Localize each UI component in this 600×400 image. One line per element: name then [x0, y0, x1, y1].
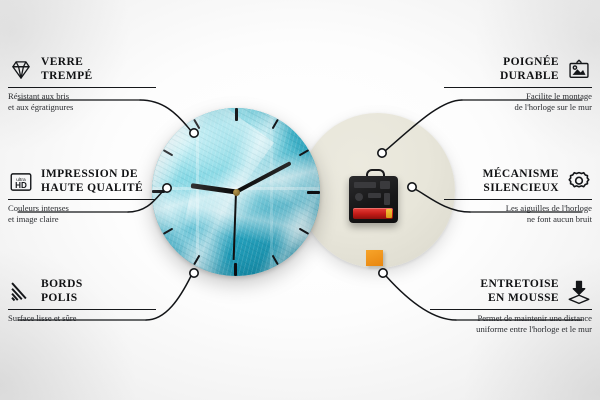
callout-header: ENTRETOISE EN MOUSSE: [430, 278, 592, 305]
callout-title: BORDS POLIS: [41, 278, 83, 305]
callout-divider: [430, 309, 592, 310]
callout-title: ENTRETOISE EN MOUSSE: [480, 278, 559, 305]
callout-divider: [8, 309, 156, 310]
callout-divider: [8, 199, 156, 200]
foam-spacer-icon: [566, 279, 592, 305]
callout-entretoise-en-mousse[interactable]: ENTRETOISE EN MOUSSE Permet de maintenir…: [430, 278, 592, 334]
callout-subtitle-line2: et image claire: [8, 214, 156, 225]
callout-divider: [444, 199, 592, 200]
callout-subtitle-line2: de l'horloge sur le mur: [444, 102, 592, 113]
callout-bords-polis[interactable]: BORDS POLIS Surface lisse et sûre: [8, 278, 156, 324]
clock-tick-3: [236, 191, 320, 193]
callout-divider: [8, 87, 156, 88]
callout-subtitle-line2: et aux égratignures: [8, 102, 156, 113]
callout-title: POIGNÉE DURABLE: [500, 56, 559, 83]
wall-clock-front-face: [152, 108, 320, 276]
quartz-mechanism: [349, 176, 398, 223]
callout-verre-trempe[interactable]: VERRE TREMPÉ Résistant aux bris et aux é…: [8, 56, 156, 112]
callout-subtitle-line2: ne font aucun bruit: [444, 214, 592, 225]
diamond-icon: [8, 57, 34, 83]
clock-tick-12: [235, 108, 237, 192]
callout-header: ultra HD IMPRESSION DE HAUTE QUALITÉ: [8, 168, 156, 195]
callout-subtitle-line2: uniforme entre l'horloge et le mur: [430, 324, 592, 335]
polished-edges-icon: [8, 279, 34, 305]
callout-title: MÉCANISME SILENCIEUX: [483, 168, 559, 195]
clock-center-cap: [233, 189, 240, 196]
mechanism-body: [349, 176, 398, 223]
callout-header: VERRE TREMPÉ: [8, 56, 156, 83]
callout-subtitle-line1: Surface lisse et sûre: [8, 313, 156, 324]
ultra-hd-icon: ultra HD: [8, 169, 34, 195]
callout-poignee-durable[interactable]: POIGNÉE DURABLE Facilite le montage de l…: [444, 56, 592, 112]
svg-text:HD: HD: [15, 181, 27, 190]
callout-title: IMPRESSION DE HAUTE QUALITÉ: [41, 168, 143, 195]
callout-subtitle-line1: Permet de maintenir une distance: [430, 313, 592, 324]
aa-battery: [353, 208, 393, 219]
callout-subtitle-line1: Les aiguilles de l'horloge: [444, 203, 592, 214]
callout-title: VERRE TREMPÉ: [41, 56, 93, 83]
callout-impression-haute-qualite[interactable]: ultra HD IMPRESSION DE HAUTE QUALITÉ Cou…: [8, 168, 156, 224]
callout-header: MÉCANISME SILENCIEUX: [444, 168, 592, 195]
callout-header: BORDS POLIS: [8, 278, 156, 305]
callout-mecanisme-silencieux[interactable]: MÉCANISME SILENCIEUX Les aiguilles de l'…: [444, 168, 592, 224]
callout-subtitle-line1: Facilite le montage: [444, 91, 592, 102]
gear-icon: [566, 169, 592, 195]
callout-divider: [444, 87, 592, 88]
callout-subtitle-line1: Résistant aux bris: [8, 91, 156, 102]
foam-spacer-square: [366, 250, 383, 266]
callout-header: POIGNÉE DURABLE: [444, 56, 592, 83]
picture-hanger-icon: [566, 57, 592, 83]
infographic-canvas: VERRE TREMPÉ Résistant aux bris et aux é…: [0, 0, 600, 400]
callout-subtitle-line1: Couleurs intenses: [8, 203, 156, 214]
